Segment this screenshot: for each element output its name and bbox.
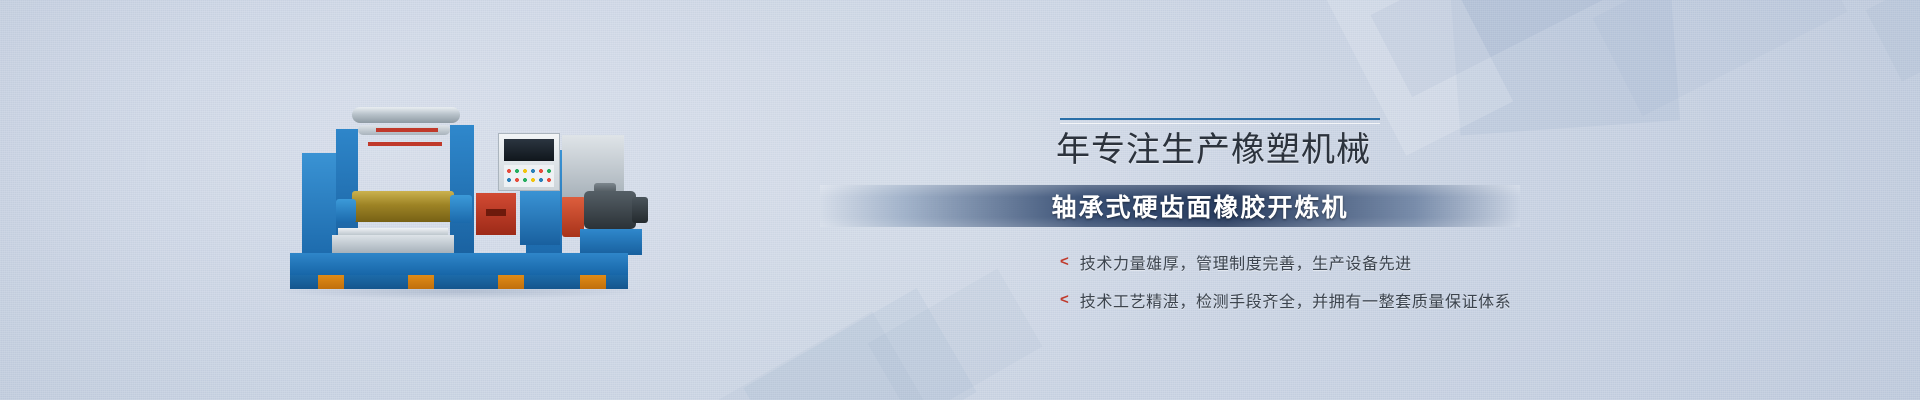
gearbox-nameplate bbox=[486, 209, 506, 216]
machine-base bbox=[290, 253, 628, 275]
control-panel-screen bbox=[504, 139, 554, 161]
chevron-left-icon: < bbox=[1060, 254, 1069, 269]
drive-motor bbox=[584, 191, 636, 229]
promo-banner: 年专注生产橡塑机械 轴承式硬齿面橡胶开炼机 < 技术力量雄厚，管理制度完善，生产… bbox=[0, 0, 1920, 400]
left-frame-column bbox=[302, 153, 336, 255]
banner-subtitle: 轴承式硬齿面橡胶开炼机 bbox=[880, 186, 1520, 226]
machine-foot bbox=[498, 275, 524, 289]
machine-foot bbox=[580, 275, 606, 289]
feature-text: 技术工艺精湛，检测手段齐全，并拥有一整套质量保证体系 bbox=[1080, 288, 1512, 312]
feature-list: < 技术力量雄厚，管理制度完善，生产设备先进 < 技术工艺精湛，检测手段齐全，并… bbox=[1060, 246, 1511, 316]
reduction-gearcase bbox=[520, 191, 560, 245]
product-image bbox=[280, 95, 700, 310]
machine-foot bbox=[408, 275, 434, 289]
list-item: < 技术力量雄厚，管理制度完善，生产设备先进 bbox=[1060, 246, 1511, 278]
banner-content: 年专注生产橡塑机械 轴承式硬齿面橡胶开炼机 < 技术力量雄厚，管理制度完善，生产… bbox=[1060, 0, 1920, 400]
machine-foot bbox=[318, 275, 344, 289]
feature-text: 技术力量雄厚，管理制度完善，生产设备先进 bbox=[1080, 250, 1412, 274]
banner-headline: 年专注生产橡塑机械 bbox=[1056, 128, 1371, 172]
title-divider-rule bbox=[1060, 118, 1380, 120]
red-stop-bar-upper bbox=[376, 128, 438, 132]
roller-bearing-right bbox=[450, 195, 472, 223]
top-steel-roller bbox=[352, 107, 460, 123]
motor-fan-cover bbox=[632, 197, 648, 223]
roller-bearing-left bbox=[336, 199, 356, 223]
motor-base-frame bbox=[580, 229, 642, 255]
list-item: < 技术工艺精湛，检测手段齐全，并拥有一整套质量保证体系 bbox=[1060, 284, 1511, 316]
red-stop-bar-lower bbox=[368, 142, 442, 146]
chevron-left-icon: < bbox=[1060, 292, 1069, 307]
control-panel-buttons bbox=[504, 165, 554, 187]
brass-mixing-roller bbox=[352, 191, 454, 222]
